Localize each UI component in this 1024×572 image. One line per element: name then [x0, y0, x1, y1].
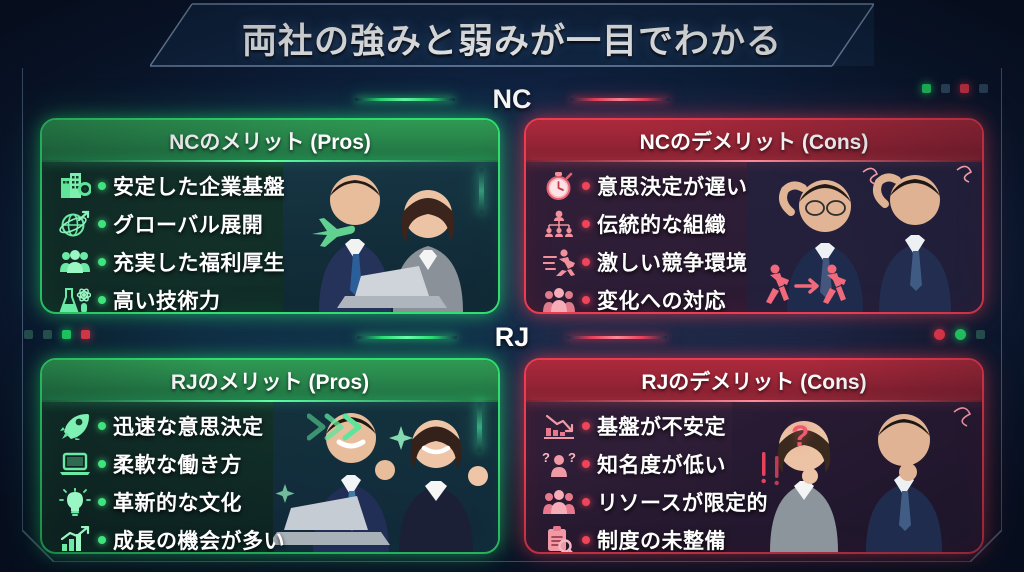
list-item[interactable]: 高い技術力 [54, 282, 285, 314]
bullet-list: 迅速な意思決定 柔軟な働き方 [54, 408, 285, 554]
panel-header: NCのデメリット (Cons) [526, 120, 982, 162]
led-indicator [955, 329, 966, 340]
growth-chart-icon [54, 523, 96, 554]
photo-business-pair [283, 162, 498, 312]
org-chart-icon [538, 207, 580, 241]
bullet-dot [98, 460, 106, 468]
list-item-label: 成長の機会が多い [113, 525, 285, 554]
list-item-label: 激しい競争環境 [597, 247, 748, 277]
panel-header: RJのメリット (Pros) [42, 360, 498, 402]
crowd-icon [538, 283, 580, 314]
panel-header: RJのデメリット (Cons) [526, 360, 982, 402]
svg-text:?: ? [542, 450, 550, 465]
list-item-label: グローバル展開 [113, 209, 263, 239]
list-item-label: 変化への対応 [597, 285, 726, 314]
list-item-label: 高い技術力 [113, 285, 221, 314]
list-item-label: リソースが限定的 [597, 487, 768, 517]
laptop-icon [54, 447, 96, 481]
list-item[interactable]: ? ? 知名度が低い [538, 446, 768, 482]
bullet-dot [98, 296, 106, 304]
panel-header: NCのメリット (Pros) [42, 120, 498, 162]
list-item[interactable]: 基盤が不安定 [538, 408, 768, 444]
runner-icon [538, 245, 580, 279]
list-item[interactable]: グローバル展開 [54, 206, 285, 242]
person-question-icon: ? ? [538, 447, 580, 481]
panel-title: RJのデメリット (Cons) [641, 366, 866, 396]
list-item[interactable]: 意思決定が遅い [538, 168, 748, 204]
list-item[interactable]: 革新的な文化 [54, 484, 285, 520]
list-item-label: 革新的な文化 [113, 487, 242, 517]
section-divider-rj: RJ [0, 320, 1024, 354]
bullet-dot [98, 182, 106, 190]
divider-line-green [357, 336, 457, 339]
bullet-dot [98, 422, 106, 430]
page-title: 両社の強みと弱みが一目でわかる [150, 2, 874, 74]
list-item-label: 安定した企業基盤 [113, 171, 285, 201]
photo-stressed-men [747, 162, 982, 312]
panel-nc-pros[interactable]: NCのメリット (Pros) [40, 118, 500, 314]
list-item-label: 充実した福利厚生 [113, 247, 285, 277]
bullet-dot [582, 296, 590, 304]
divider-line-red [570, 98, 670, 101]
panel-rj-pros[interactable]: RJのメリット (Pros) [40, 358, 500, 554]
list-item[interactable]: 伝統的な組織 [538, 206, 748, 242]
panel-rj-cons[interactable]: RJのデメリット (Cons) [524, 358, 984, 554]
panel-title: NCのデメリット (Cons) [640, 126, 869, 156]
bullet-dot [582, 258, 590, 266]
list-item[interactable]: 成長の機会が多い [54, 522, 285, 554]
divider-line-green [355, 98, 455, 101]
section-label-rj: RJ [495, 322, 530, 353]
photo-celebrating-pair [273, 402, 498, 552]
title-banner: 両社の強みと弱みが一目でわかる [150, 2, 874, 74]
panel-body: 安定した企業基盤 グローバル展開 [42, 162, 498, 312]
bullet-dot [582, 220, 590, 228]
led-indicator [934, 329, 945, 340]
list-item[interactable]: 激しい競争環境 [538, 244, 748, 280]
list-item[interactable]: 制度の未整備 [538, 522, 768, 554]
bullet-dot [582, 460, 590, 468]
bullet-list: 基盤が不安定 ? ? 知名度が低い [538, 408, 768, 554]
bullet-dot [98, 536, 106, 544]
lightbulb-icon [54, 485, 96, 519]
list-item-label: 意思決定が遅い [597, 171, 748, 201]
people-group-icon [54, 245, 96, 279]
bullet-dot [582, 498, 590, 506]
panel-title: RJのメリット (Pros) [171, 366, 369, 396]
bullet-dot [582, 422, 590, 430]
bullet-dot [582, 182, 590, 190]
list-item-label: 制度の未整備 [597, 525, 726, 554]
clipboard-search-icon [538, 523, 580, 554]
flask-atom-icon [54, 283, 96, 314]
panel-body: 意思決定が遅い 伝統的な組織 [526, 162, 982, 312]
panel-body: 迅速な意思決定 柔軟な働き方 [42, 402, 498, 552]
list-item-label: 迅速な意思決定 [113, 411, 264, 441]
divider-line-red [567, 336, 667, 339]
globe-arrow-icon [54, 207, 96, 241]
bullet-list: 安定した企業基盤 グローバル展開 [54, 168, 285, 314]
list-item[interactable]: 安定した企業基盤 [54, 168, 285, 204]
stopwatch-icon [538, 169, 580, 203]
photo-worried-pair [732, 402, 982, 552]
rocket-icon [54, 409, 96, 443]
list-item-label: 伝統的な組織 [597, 209, 726, 239]
bullet-dot [98, 258, 106, 266]
bullet-dot [98, 498, 106, 506]
bullet-dot [582, 536, 590, 544]
list-item-label: 基盤が不安定 [597, 411, 726, 441]
panel-nc-cons[interactable]: NCのデメリット (Cons) [524, 118, 984, 314]
list-item[interactable]: 変化への対応 [538, 282, 748, 314]
bullet-dot [98, 220, 106, 228]
section-divider-nc: NC [0, 82, 1024, 116]
building-gear-icon [54, 169, 96, 203]
led-indicator [976, 330, 985, 339]
list-item[interactable]: 柔軟な働き方 [54, 446, 285, 482]
declining-chart-icon [538, 409, 580, 443]
led-cluster-mid-right [934, 329, 985, 340]
slide-root: 両社の強みと弱みが一目でわかる NC NCのメリット (Pros) [0, 0, 1024, 572]
panel-body: ? 基盤が不安定 [526, 402, 982, 552]
people-group-icon [538, 485, 580, 519]
list-item-label: 知名度が低い [597, 449, 726, 479]
section-label-nc: NC [493, 84, 532, 115]
panel-title: NCのメリット (Pros) [169, 126, 371, 156]
list-item[interactable]: 迅速な意思決定 [54, 408, 285, 444]
list-item[interactable]: リソースが限定的 [538, 484, 768, 520]
list-item-label: 柔軟な働き方 [113, 449, 242, 479]
bullet-list: 意思決定が遅い 伝統的な組織 [538, 168, 748, 314]
svg-text:?: ? [568, 450, 576, 465]
list-item[interactable]: 充実した福利厚生 [54, 244, 285, 280]
